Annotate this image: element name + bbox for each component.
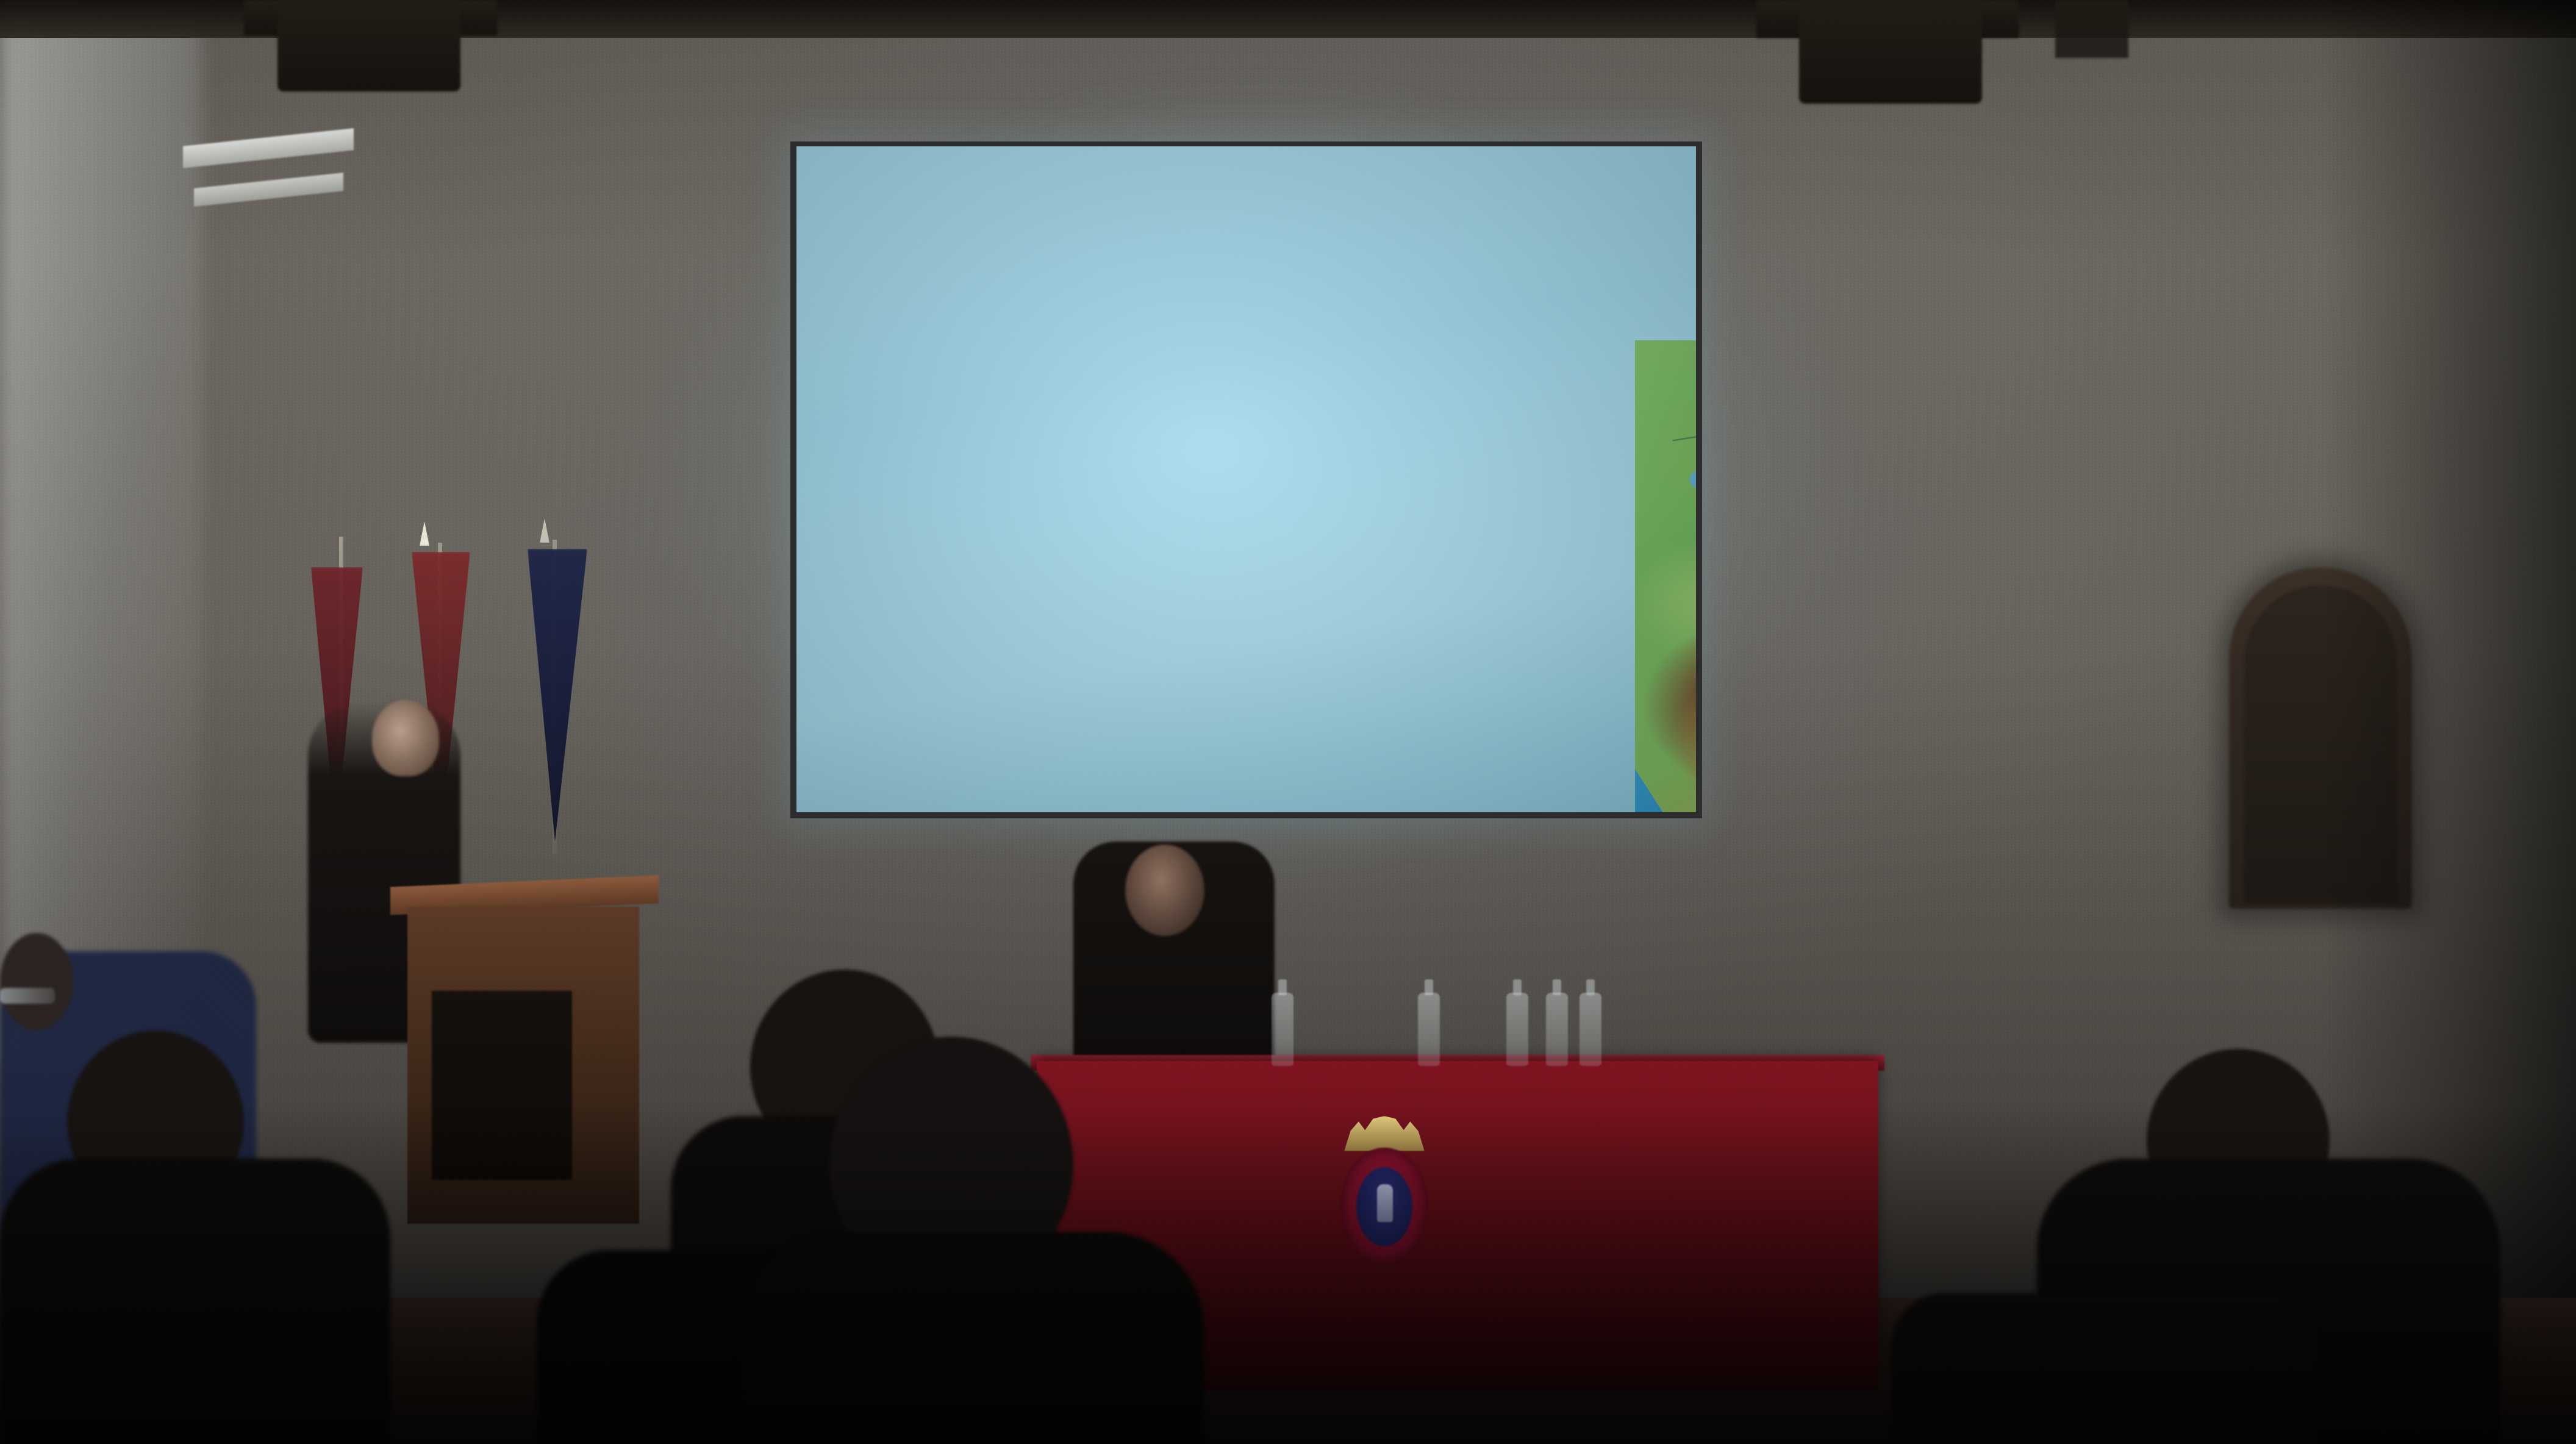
audience-body-far-right	[1891, 1293, 2317, 1444]
lecture-hall-photo: Map of the Vatin culture and its regiona…	[0, 0, 2576, 1444]
crown-icon	[1344, 1116, 1425, 1151]
ceiling-beam-left	[277, 0, 460, 91]
seated-person-head	[1125, 845, 1204, 936]
lectern-front-panel	[432, 991, 572, 1180]
water-bottle	[1506, 993, 1528, 1066]
water-bottle	[1546, 993, 1568, 1066]
ceiling-beam-far-right	[2055, 0, 2128, 58]
audience-body-center-front	[741, 1232, 1204, 1444]
lectern	[390, 881, 659, 1223]
ceiling-beam-right	[1799, 0, 1982, 104]
eyeglasses	[0, 988, 55, 1004]
audience-head-far-left	[0, 933, 73, 1031]
water-bottle	[1418, 993, 1440, 1066]
water-bottle-row	[1272, 987, 1698, 1066]
slide-vignette	[796, 146, 1696, 812]
institution-crest	[1329, 1116, 1439, 1268]
audience-body-left	[0, 1159, 390, 1444]
vatin-culture-map	[1635, 340, 1696, 812]
crest-figure	[1377, 1184, 1393, 1222]
speaker-head	[372, 700, 439, 776]
relief-terrain	[1635, 340, 1696, 812]
water-bottle	[1272, 993, 1293, 1066]
presentation-slide[interactable]: Map of the Vatin culture and its regiona…	[796, 146, 1696, 812]
water-bottle	[1580, 993, 1601, 1066]
